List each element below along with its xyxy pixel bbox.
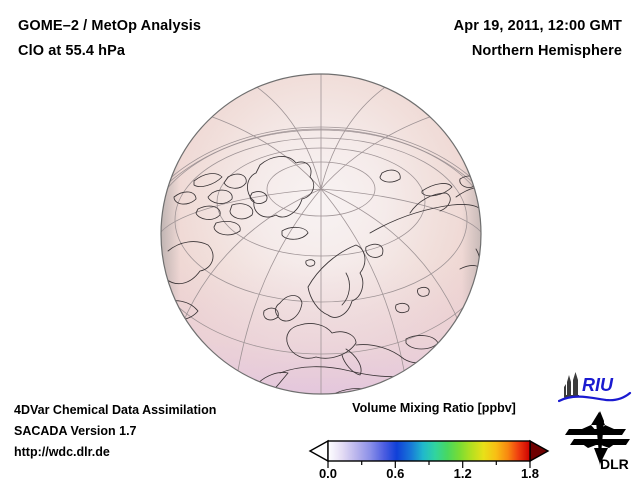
- dlr-logo-svg: DLR: [564, 409, 636, 471]
- colorbar-gradient: [328, 441, 530, 461]
- cathedral-towers-icon: [564, 372, 579, 398]
- colorbar: Volume Mixing Ratio [ppbv]: [300, 401, 558, 479]
- colorbar-tick-2: 1.2: [454, 466, 472, 479]
- version-label: SACADA Version 1.7: [14, 421, 216, 442]
- colorbar-scale: 0.0 0.6 1.2 1.8: [300, 419, 558, 479]
- colorbar-tick-0: 0.0: [319, 466, 337, 479]
- footer-left: 4DVar Chemical Data Assimilation SACADA …: [14, 400, 216, 463]
- colorbar-under-arrow: [310, 441, 328, 461]
- riu-wordmark: RIU: [582, 375, 614, 395]
- colorbar-tick-1: 0.6: [386, 466, 404, 479]
- dlr-logo[interactable]: DLR: [564, 409, 636, 471]
- colorbar-ticks: [328, 461, 530, 468]
- source-url[interactable]: http://wdc.dlr.de: [14, 442, 216, 463]
- globe-map[interactable]: [160, 73, 482, 395]
- colorbar-title: Volume Mixing Ratio [ppbv]: [310, 401, 558, 415]
- riu-logo-svg: RIU: [558, 371, 634, 405]
- colorbar-over-arrow: [530, 441, 548, 461]
- globe-orthographic-svg: [160, 73, 482, 395]
- colorbar-tick-3: 1.8: [521, 466, 539, 479]
- assimilation-method-label: 4DVar Chemical Data Assimilation: [14, 400, 216, 421]
- riu-logo[interactable]: RIU: [558, 371, 634, 405]
- dlr-wordmark: DLR: [600, 456, 629, 471]
- colorbar-tick-labels: 0.0 0.6 1.2 1.8: [319, 466, 539, 479]
